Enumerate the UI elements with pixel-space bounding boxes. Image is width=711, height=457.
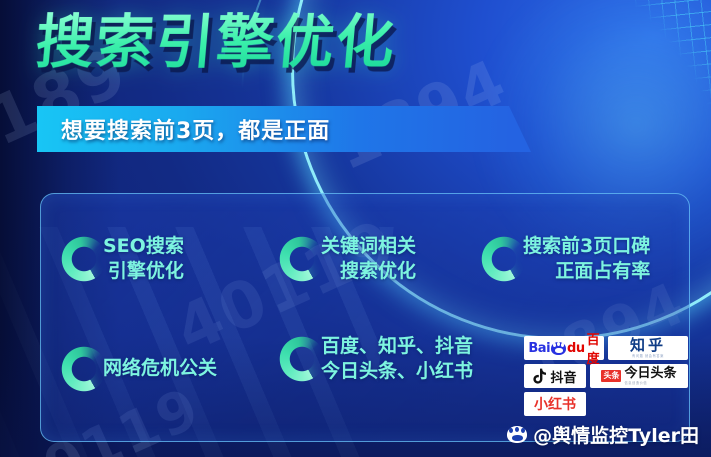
toutiao-cn-text: 今日头条 (624, 367, 676, 380)
logo-xiaohongshu: 小红书 (524, 392, 586, 416)
poster-canvas: 189 1894 40119 1894 0119 搜索引擎优化 想要搜索前3页，… (0, 0, 711, 457)
c-arc-icon (279, 336, 325, 382)
zhihu-cn-text: 知乎 (630, 338, 666, 353)
author-handle: @舆情监控Tyler田 (507, 421, 699, 448)
feature-line-2: 搜索优化 (321, 259, 416, 284)
feature-label: 搜索前3页口碑 正面占有率 (523, 234, 650, 285)
logo-douyin: 抖音 (524, 364, 586, 388)
baidu-latin-primary: Bai (528, 341, 550, 356)
feature-line-1: 网络危机公关 (103, 356, 217, 381)
baidu-paw-icon (507, 426, 527, 443)
toutiao-badge: 头条 (601, 370, 621, 382)
douyin-music-note-icon (533, 368, 547, 384)
feature-line-1: 搜索前3页口碑 (523, 234, 650, 259)
feature-item-seo: SEO搜索 引擎优化 (61, 234, 184, 285)
baidu-latin-secondary: du (567, 341, 585, 356)
c-arc-icon (61, 346, 107, 392)
author-handle-text: @舆情监控Tyler田 (533, 421, 699, 448)
douyin-cn-text: 抖音 (550, 367, 576, 386)
feature-item-keyword: 关键词相关 搜索优化 (279, 234, 416, 285)
logo-baidu: Bai du 百度 (524, 336, 604, 360)
subtitle-text: 想要搜索前3页，都是正面 (61, 113, 330, 145)
feature-item-platforms: 百度、知乎、抖音 今日头条、小红书 (279, 334, 473, 385)
platform-logo-grid: Bai du 百度 知乎 有问题 就会有答案 抖音 头条 今日头条 信息创造价值 (524, 336, 692, 416)
subtitle-banner: 想要搜索前3页，都是正面 (37, 106, 509, 152)
feature-line-1: SEO搜索 (103, 234, 184, 259)
feature-line-1: 百度、知乎、抖音 (321, 334, 473, 359)
baidu-paw-icon (551, 342, 566, 355)
c-arc-icon (481, 236, 527, 282)
toutiao-text-block: 今日头条 信息创造价值 (624, 367, 676, 385)
toutiao-tagline: 信息创造价值 (624, 382, 647, 385)
feature-line-2: 正面占有率 (523, 259, 650, 284)
feature-label: 网络危机公关 (103, 356, 217, 381)
feature-label: 百度、知乎、抖音 今日头条、小红书 (321, 334, 473, 385)
zhihu-tagline: 有问题 就会有答案 (632, 355, 664, 358)
page-title: 搜索引擎优化 (33, 12, 398, 73)
logo-toutiao: 头条 今日头条 信息创造价值 (590, 364, 688, 388)
baidu-cn-text: 百度 (587, 329, 600, 367)
feature-label: SEO搜索 引擎优化 (103, 234, 184, 285)
feature-line-2: 今日头条、小红书 (321, 359, 473, 384)
c-arc-icon (61, 236, 107, 282)
feature-line-2: 引擎优化 (103, 259, 184, 284)
feature-item-crisis-pr: 网络危机公关 (61, 346, 217, 392)
feature-line-1: 关键词相关 (321, 234, 416, 259)
c-arc-icon (279, 236, 325, 282)
feature-item-top3-reputation: 搜索前3页口碑 正面占有率 (481, 234, 650, 285)
feature-label: 关键词相关 搜索优化 (321, 234, 416, 285)
logo-zhihu: 知乎 有问题 就会有答案 (608, 336, 688, 360)
xiaohongshu-cn-text: 小红书 (534, 394, 576, 414)
